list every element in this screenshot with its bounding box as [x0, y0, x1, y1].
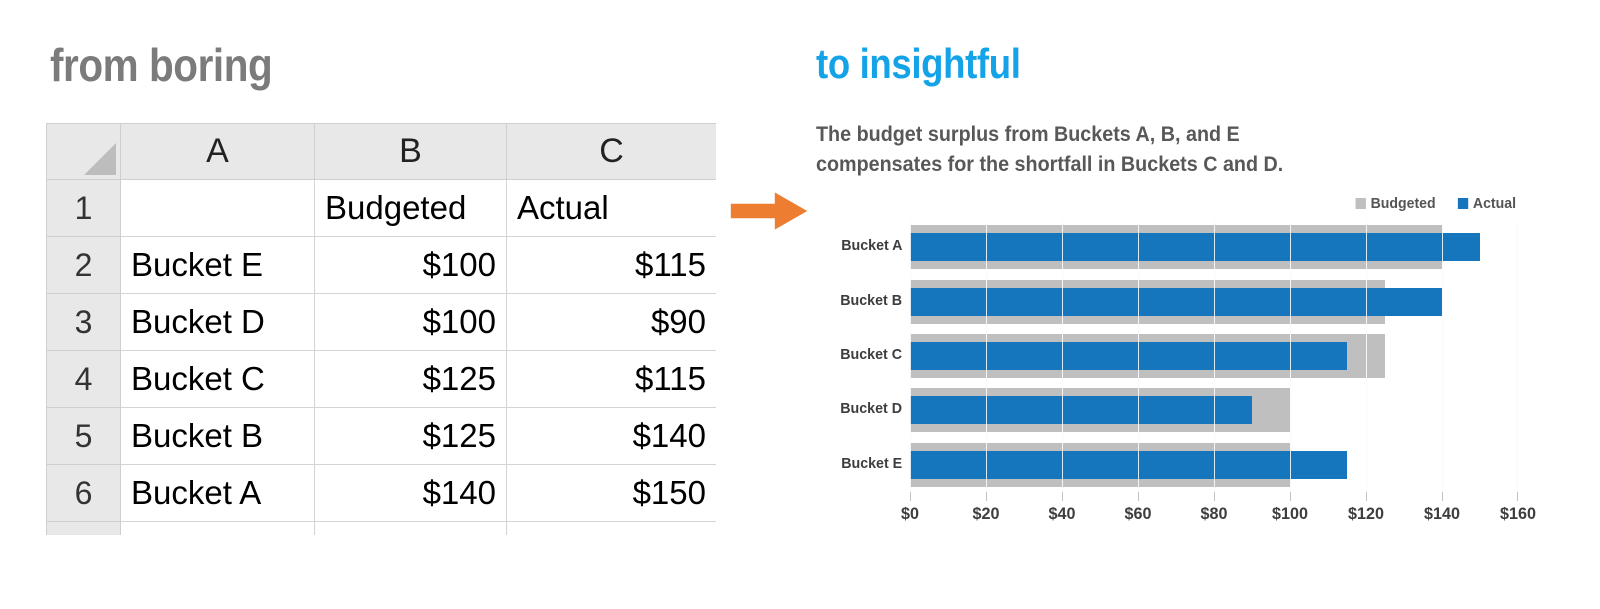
column-header-c[interactable]: C	[507, 124, 717, 180]
table-row[interactable]: 7	[47, 522, 717, 536]
column-header-b[interactable]: B	[315, 124, 507, 180]
x-axis-tick-labels: $0$20$40$60$80$100$120$140$160	[910, 504, 1518, 534]
gridline-overlay	[910, 220, 911, 492]
cell-b4[interactable]: $125	[315, 351, 507, 408]
y-axis-category-labels: Bucket ABucket BBucket CBucket DBucket E	[810, 220, 910, 492]
row-header-3[interactable]: 3	[47, 294, 121, 351]
cell-c7[interactable]	[507, 522, 717, 536]
tick-mark	[910, 492, 911, 501]
cell-c6[interactable]: $150	[507, 465, 717, 522]
left-panel: from boring A B C D 1	[0, 0, 740, 609]
gridline-overlay	[1062, 220, 1063, 492]
cell-c3[interactable]: $90	[507, 294, 717, 351]
transition-arrow	[728, 186, 812, 236]
cell-a2[interactable]: Bucket E	[121, 237, 315, 294]
legend-label-budgeted: Budgeted	[1371, 195, 1436, 212]
gridline-overlay	[1517, 220, 1518, 492]
cell-b5[interactable]: $125	[315, 408, 507, 465]
cell-b7[interactable]	[315, 522, 507, 536]
table-row[interactable]: 5 Bucket B $125 $140	[47, 408, 717, 465]
x-tick-label: $140	[1424, 504, 1460, 524]
row-header-2[interactable]: 2	[47, 237, 121, 294]
legend-item-budgeted[interactable]: Budgeted	[1356, 195, 1436, 212]
tick-mark	[1214, 492, 1215, 501]
x-tick-label: $20	[973, 504, 1000, 524]
plot-area	[910, 220, 1518, 492]
spreadsheet-table[interactable]: A B C D 1 Budgeted Actual 2 Bucket E $	[46, 123, 716, 535]
cell-a5[interactable]: Bucket B	[121, 408, 315, 465]
category-label-bucket-e: Bucket E	[841, 455, 902, 472]
cell-b6[interactable]: $140	[315, 465, 507, 522]
cell-b2[interactable]: $100	[315, 237, 507, 294]
bar-actual-bucket-c[interactable]	[910, 342, 1347, 370]
table-row[interactable]: 1 Budgeted Actual	[47, 180, 717, 237]
chart-legend: Budgeted Actual	[1353, 195, 1518, 212]
plot-wrapper: Bucket ABucket BBucket CBucket DBucket E…	[810, 220, 1600, 510]
gridline-overlay	[1442, 220, 1443, 492]
gridline-overlay	[1366, 220, 1367, 492]
x-axis-tick-marks	[910, 492, 1518, 502]
from-boring-heading: from boring	[50, 38, 272, 92]
row-header-4[interactable]: 4	[47, 351, 121, 408]
cell-a1[interactable]	[121, 180, 315, 237]
bar-actual-bucket-d[interactable]	[910, 396, 1252, 424]
select-all-triangle-icon	[84, 143, 116, 175]
tick-mark	[1062, 492, 1063, 501]
column-header-a[interactable]: A	[121, 124, 315, 180]
tick-mark	[1290, 492, 1291, 501]
gridline-overlay	[1214, 220, 1215, 492]
legend-label-actual: Actual	[1473, 195, 1516, 212]
chart-takeaway-text: The budget surplus from Buckets A, B, an…	[816, 120, 1361, 180]
spreadsheet-grid[interactable]: A B C D 1 Budgeted Actual 2 Bucket E $	[46, 123, 716, 535]
category-label-bucket-d: Bucket D	[840, 400, 902, 417]
cell-c2[interactable]: $115	[507, 237, 717, 294]
x-tick-label: $100	[1272, 504, 1308, 524]
category-label-bucket-c: Bucket C	[840, 346, 902, 363]
row-header-1[interactable]: 1	[47, 180, 121, 237]
gridline-overlay	[986, 220, 987, 492]
right-panel: to insightful The budget surplus from Bu…	[810, 0, 1600, 609]
right-arrow-icon	[728, 186, 812, 236]
tick-mark	[1138, 492, 1139, 501]
tick-mark	[1517, 492, 1518, 501]
cell-b1[interactable]: Budgeted	[315, 180, 507, 237]
cell-a3[interactable]: Bucket D	[121, 294, 315, 351]
category-label-bucket-a: Bucket A	[841, 237, 902, 254]
column-header-row: A B C D	[47, 124, 717, 180]
x-tick-label: $120	[1348, 504, 1384, 524]
budget-vs-actual-chart: Budgeted Actual Bucket ABucket BBucket C…	[810, 192, 1600, 542]
gridline-overlay	[1138, 220, 1139, 492]
gridline-overlay	[1290, 220, 1291, 492]
legend-swatch-actual	[1458, 198, 1468, 209]
x-tick-label: $40	[1049, 504, 1076, 524]
bar-actual-bucket-b[interactable]	[910, 288, 1442, 316]
legend-item-actual[interactable]: Actual	[1458, 195, 1516, 212]
category-label-bucket-b: Bucket B	[840, 292, 902, 309]
table-row[interactable]: 4 Bucket C $125 $115	[47, 351, 717, 408]
cell-c5[interactable]: $140	[507, 408, 717, 465]
table-row[interactable]: 6 Bucket A $140 $150	[47, 465, 717, 522]
cell-a7[interactable]	[121, 522, 315, 536]
cell-a4[interactable]: Bucket C	[121, 351, 315, 408]
tick-mark	[1366, 492, 1367, 501]
cell-c4[interactable]: $115	[507, 351, 717, 408]
select-all-corner[interactable]	[47, 124, 121, 180]
table-row[interactable]: 3 Bucket D $100 $90	[47, 294, 717, 351]
row-header-6[interactable]: 6	[47, 465, 121, 522]
x-tick-label: $160	[1500, 504, 1536, 524]
x-tick-label: $60	[1125, 504, 1152, 524]
tick-mark	[986, 492, 987, 501]
legend-swatch-budgeted	[1356, 198, 1366, 209]
row-header-7[interactable]: 7	[47, 522, 121, 536]
cell-b3[interactable]: $100	[315, 294, 507, 351]
tick-mark	[1442, 492, 1443, 501]
bar-actual-bucket-e[interactable]	[910, 451, 1347, 479]
bar-actual-bucket-a[interactable]	[910, 233, 1480, 261]
table-row[interactable]: 2 Bucket E $100 $115	[47, 237, 717, 294]
cell-a6[interactable]: Bucket A	[121, 465, 315, 522]
x-tick-label: $0	[901, 504, 919, 524]
cell-c1[interactable]: Actual	[507, 180, 717, 237]
x-tick-label: $80	[1201, 504, 1228, 524]
row-header-5[interactable]: 5	[47, 408, 121, 465]
to-insightful-heading: to insightful	[816, 40, 1021, 88]
